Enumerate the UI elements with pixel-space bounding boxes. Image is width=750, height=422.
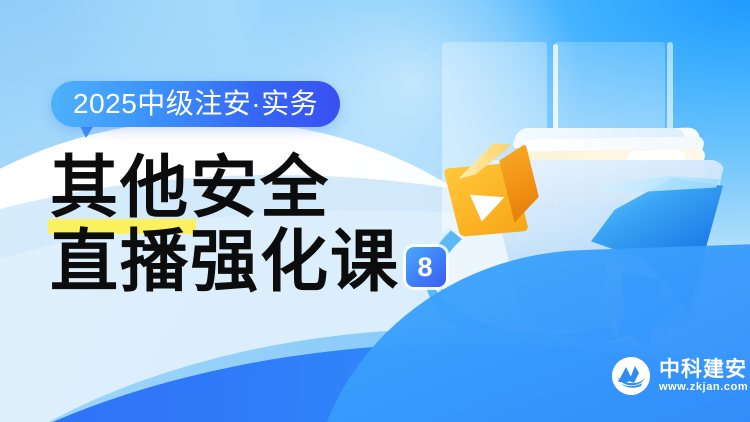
brand-logo-text: 中科建安 www.zkjan.com xyxy=(659,358,748,394)
category-badge: 2025中级注安·实务 xyxy=(51,81,340,127)
episode-number-badge: 8 xyxy=(406,247,446,287)
category-badge-label: 2025中级注安·实务 xyxy=(73,90,318,118)
headline-line-2: 直播强化课 8 xyxy=(50,225,470,299)
headline-line-2-text: 直播强化课 xyxy=(50,225,400,299)
headline-line-1: 其他安全 xyxy=(50,151,470,225)
headline-group: 其他安全 直播强化课 8 xyxy=(50,151,470,299)
headline-line-1-text: 其他安全 xyxy=(50,150,330,226)
episode-number-text: 8 xyxy=(418,254,435,281)
brand-logo: 中科建安 www.zkjan.com xyxy=(612,357,748,395)
brand-name: 中科建安 xyxy=(659,358,748,381)
brand-url: www.zkjan.com xyxy=(659,381,748,394)
course-banner: 2025中级注安·实务 其他安全 直播强化课 8 中科建安 www xyxy=(0,0,750,422)
mountain-person-circle-icon xyxy=(612,357,650,395)
